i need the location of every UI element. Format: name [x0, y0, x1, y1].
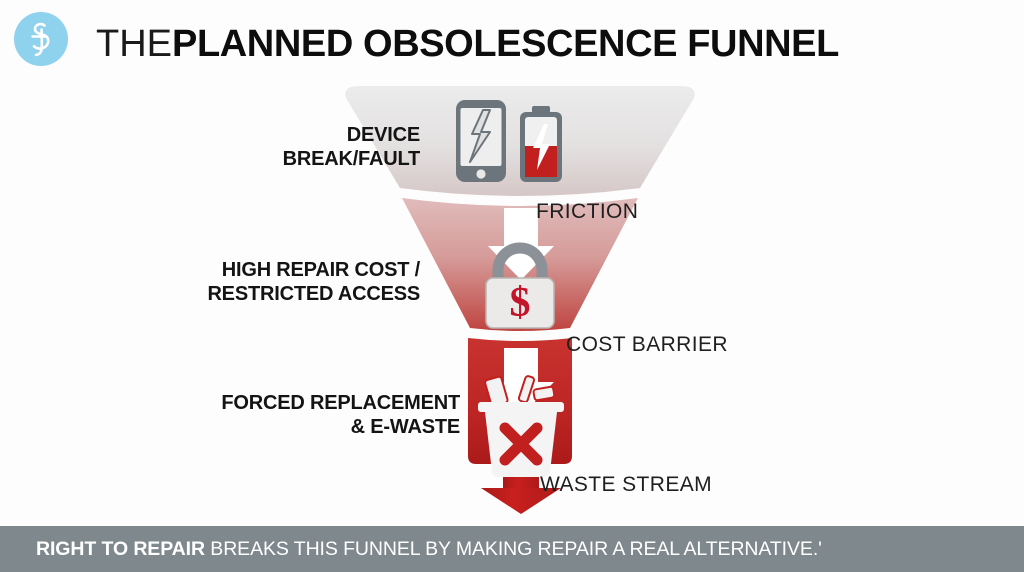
banner-text-normal: BREAKS THIS FUNNEL BY MAKING REPAIR A RE…: [205, 538, 822, 560]
brand-logo: [14, 12, 68, 66]
cracked-phone-icon: [456, 100, 506, 182]
stage-label-3-line-1: FORCED REPLACEMENT: [40, 392, 460, 416]
infographic-canvas: THE PLANNED OBSOLESCENCE FUNNEL: [0, 0, 1024, 572]
stage-label-2-line-2: RESTRICTED ACCESS: [40, 283, 420, 307]
stage-label-3-line-2: & E-WASTE: [40, 416, 460, 440]
banner-text: RIGHT TO REPAIR BREAKS THIS FUNNEL BY MA…: [0, 538, 822, 561]
transition-label-friction: FRICTION: [536, 200, 638, 224]
stage-label-1-line-2: BREAK/FAULT: [60, 148, 420, 172]
transition-label-cost-barrier: COST BARRIER: [566, 333, 728, 357]
trash-bin-x-icon: [478, 375, 564, 477]
low-battery-icon: [520, 106, 562, 182]
bottom-banner: RIGHT TO REPAIR BREAKS THIS FUNNEL BY MA…: [0, 526, 1024, 572]
svg-text:$: $: [510, 280, 531, 326]
banner-text-strong: RIGHT TO REPAIR: [36, 538, 205, 560]
stage-label-1-line-1: DEVICE: [60, 124, 420, 148]
page-title-bold: PLANNED OBSOLESCENCE FUNNEL: [172, 23, 839, 66]
stage-label-2-line-1: HIGH REPAIR COST /: [40, 259, 420, 283]
stage-label-3: FORCED REPLACEMENT & E-WASTE: [40, 392, 460, 439]
script-f-logo-icon: [24, 20, 58, 58]
stage-label-2: HIGH REPAIR COST / RESTRICTED ACCESS: [40, 259, 420, 306]
transition-label-waste-stream: WASTE STREAM: [540, 473, 712, 497]
page-title-light: THE: [96, 23, 172, 66]
page-title: THE PLANNED OBSOLESCENCE FUNNEL: [96, 18, 976, 70]
stage-label-1: DEVICE BREAK/FAULT: [60, 124, 420, 171]
